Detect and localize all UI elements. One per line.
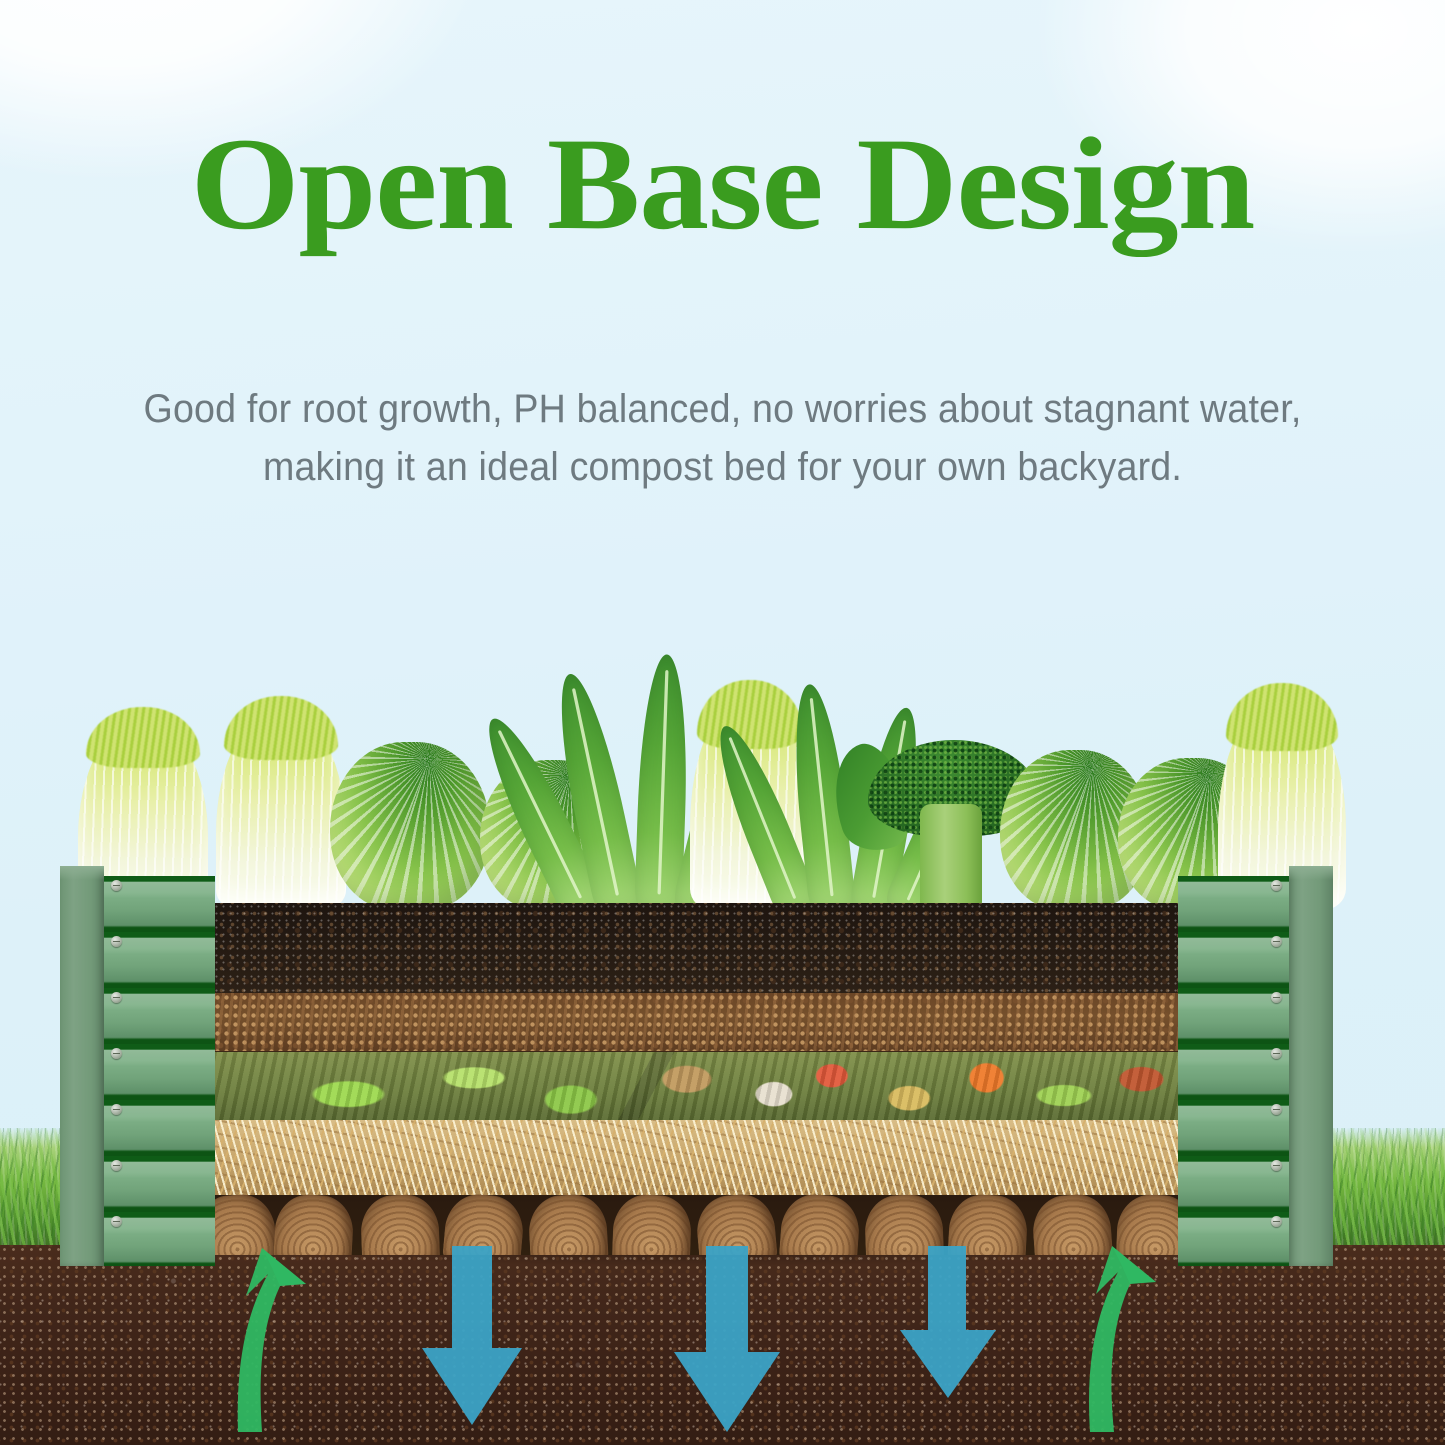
screw-icon	[1271, 1048, 1282, 1059]
arrow-down-3-icon	[900, 1246, 996, 1398]
arrow-up-left-icon	[238, 1248, 306, 1432]
screw-icon	[1271, 1104, 1282, 1115]
arrow-down-1-icon	[422, 1246, 522, 1425]
airflow-arrows	[0, 0, 1445, 1445]
screw-icon	[111, 1104, 122, 1115]
infographic-canvas: Open Base Design Good for root growth, P…	[0, 0, 1445, 1445]
screw-icon	[111, 992, 122, 1003]
garden-bed-scene	[0, 0, 1445, 1445]
screw-icon	[1271, 1216, 1282, 1227]
screw-icon	[1271, 936, 1282, 947]
screw-icon	[111, 1160, 122, 1171]
screw-icon	[1271, 880, 1282, 891]
screw-icon	[111, 1216, 122, 1227]
screw-icon	[1271, 1160, 1282, 1171]
screw-icon	[111, 880, 122, 891]
arrow-up-right-icon	[1089, 1246, 1156, 1432]
screw-icon	[111, 1048, 122, 1059]
screw-icon	[111, 936, 122, 947]
arrow-down-2-icon	[674, 1246, 780, 1432]
screw-icon	[1271, 992, 1282, 1003]
